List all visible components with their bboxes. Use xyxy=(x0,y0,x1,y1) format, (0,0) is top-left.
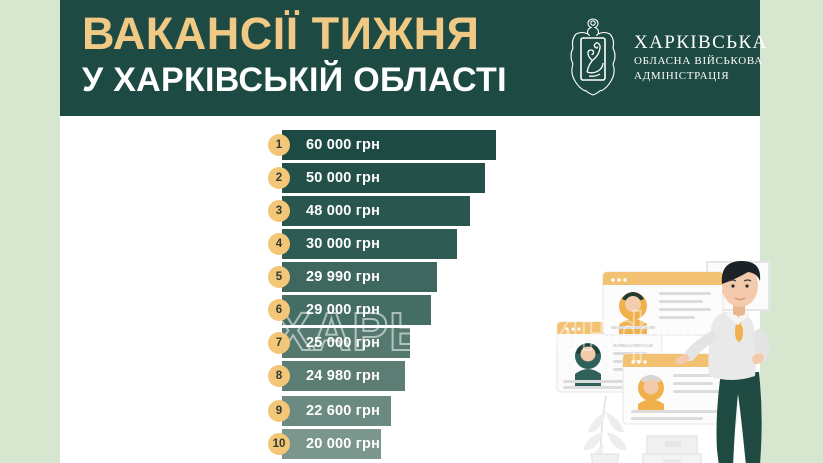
bar-value-label: 30 000 грн xyxy=(306,236,380,252)
bar-fill: 60 000 грн xyxy=(282,130,496,160)
header-titles: ВАКАНСІЇ ТИЖНЯ У ХАРКІВСЬКІЙ ОБЛАСТІ xyxy=(82,9,552,101)
bar-rank-badge: 10 xyxy=(268,433,290,455)
bar-fill: 29 990 грн xyxy=(282,262,437,292)
bar-value-label: 22 600 грн xyxy=(306,403,380,419)
bar-rank-badge: 2 xyxy=(268,167,290,189)
recruiter-reviewing-resumes-illustration xyxy=(555,244,820,463)
bar-value-label: 48 000 грн xyxy=(306,203,380,219)
bar-fill: 30 000 грн xyxy=(282,229,457,259)
kharkiv-coat-of-arms-icon xyxy=(562,14,624,102)
bar-rank-badge: 9 xyxy=(268,400,290,422)
bar-fill: 29 000 грн xyxy=(282,295,431,325)
bar-rank-badge: 4 xyxy=(268,233,290,255)
bar-rank-badge: 1 xyxy=(268,134,290,156)
page-title: ВАКАНСІЇ ТИЖНЯ xyxy=(82,9,552,59)
logo-line-3: АДМІНІСТРАЦІЯ xyxy=(634,69,768,84)
bar-fill: 50 000 грн xyxy=(282,163,485,193)
logo-line-2: ОБЛАСНА ВІЙСЬКОВА xyxy=(634,54,768,69)
bar-rank-badge: 5 xyxy=(268,266,290,288)
bar-value-label: 29 000 грн xyxy=(306,302,380,318)
bar-rank-badge: 3 xyxy=(268,200,290,222)
bar-value-label: 24 980 грн xyxy=(306,368,380,384)
bar-fill: 25 000 грн xyxy=(282,328,410,358)
bar-rank-badge: 6 xyxy=(268,299,290,321)
bar-fill: 48 000 грн xyxy=(282,196,470,226)
bar-fill: 22 600 грн xyxy=(282,396,391,426)
oda-logo-block: ХАРКІВСЬКА ОБЛАСНА ВІЙСЬКОВА АДМІНІСТРАЦ… xyxy=(562,12,752,104)
bar-rank-badge: 8 xyxy=(268,365,290,387)
bar-fill: 24 980 грн xyxy=(282,361,405,391)
bar-value-label: 29 990 грн xyxy=(306,269,380,285)
bar-rank-badge: 7 xyxy=(268,332,290,354)
bar-value-label: 20 000 грн xyxy=(306,436,380,452)
bar-value-label: 60 000 грн xyxy=(306,137,380,153)
oda-logo-text: ХАРКІВСЬКА ОБЛАСНА ВІЙСЬКОВА АДМІНІСТРАЦ… xyxy=(634,32,768,84)
left-margin-band xyxy=(0,0,60,463)
bar-fill: 20 000 грн xyxy=(282,429,381,459)
header-banner: ВАКАНСІЇ ТИЖНЯ У ХАРКІВСЬКІЙ ОБЛАСТІ xyxy=(60,0,760,116)
bar-value-label: 25 000 грн xyxy=(306,335,380,351)
bar-value-label: 50 000 грн xyxy=(306,170,380,186)
page-subtitle: У ХАРКІВСЬКІЙ ОБЛАСТІ xyxy=(82,59,552,101)
logo-line-1: ХАРКІВСЬКА xyxy=(634,32,768,54)
infographic-page: ВАКАНСІЇ ТИЖНЯ У ХАРКІВСЬКІЙ ОБЛАСТІ xyxy=(0,0,823,463)
vacancy-bar-chart: ХАРЬКОВинфо 60 000 грн1Лікар-нейрохірург… xyxy=(60,116,760,463)
